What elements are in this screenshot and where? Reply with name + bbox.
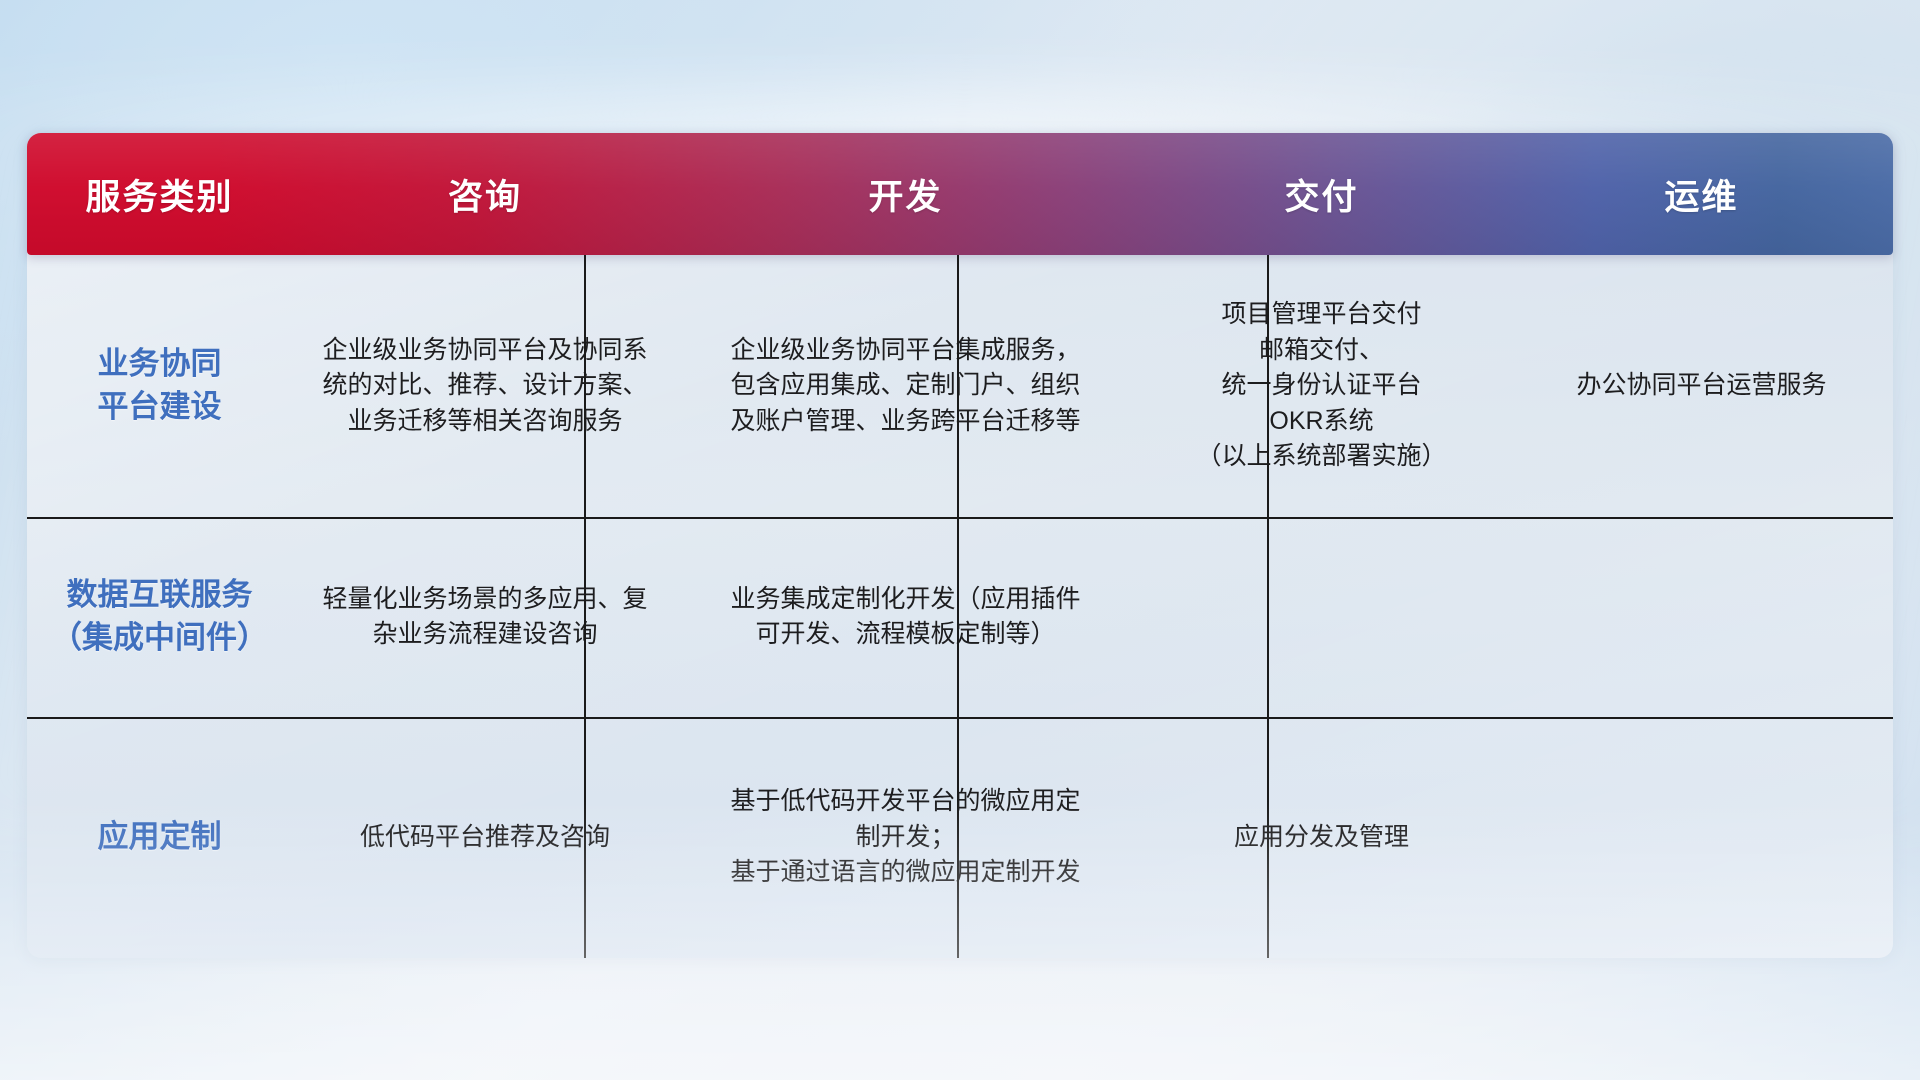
cell-text: 项目管理平台交付 邮箱交付、 统一身份认证平台 OKR系统 （以上系统部署实施） [1196, 297, 1446, 475]
column-header-delivery: 交付 [1133, 169, 1510, 220]
cell-category: 应用定制 [27, 717, 292, 958]
table-row: 业务协同 平台建设 企业级业务协同平台及协同系 统的对比、推荐、设计方案、 业务… [27, 255, 1893, 517]
column-divider [1267, 717, 1269, 958]
column-divider [584, 255, 586, 517]
cell-operations [1510, 717, 1893, 958]
column-divider [957, 255, 959, 517]
cell-operations [1510, 517, 1893, 717]
cell-text: 低代码平台推荐及咨询 [360, 820, 610, 856]
cell-operations: 办公协同平台运营服务 [1510, 255, 1893, 517]
cell-text: 企业级业务协同平台集成服务， 包含应用集成、定制门户、组织 及账户管理、业务跨平… [730, 333, 1080, 440]
category-label: 应用定制 [98, 816, 222, 859]
cell-delivery: 应用分发及管理 [1133, 717, 1510, 958]
column-divider [1267, 255, 1269, 517]
column-divider [957, 517, 959, 717]
cell-text: 办公协同平台运营服务 [1576, 368, 1826, 404]
cell-consulting: 企业级业务协同平台及协同系 统的对比、推荐、设计方案、 业务迁移等相关咨询服务 [292, 255, 678, 517]
cell-development: 业务集成定制化开发（应用插件 可开发、流程模板定制等） [678, 517, 1133, 717]
column-header-operations: 运维 [1510, 169, 1893, 220]
column-divider [584, 517, 586, 717]
column-divider [1267, 517, 1269, 717]
table-row: 数据互联服务 （集成中间件） 轻量化业务场景的多应用、复 杂业务流程建设咨询 业… [27, 517, 1893, 717]
table-body: 业务协同 平台建设 企业级业务协同平台及协同系 统的对比、推荐、设计方案、 业务… [27, 255, 1893, 958]
cell-category: 数据互联服务 （集成中间件） [27, 517, 292, 717]
row-divider [27, 717, 1893, 719]
slide-canvas: 服务类别 咨询 开发 交付 运维 业务协同 平台建设 企业级业务协同平台及协同系… [0, 0, 1920, 1080]
service-matrix-table: 服务类别 咨询 开发 交付 运维 业务协同 平台建设 企业级业务协同平台及协同系… [27, 133, 1893, 958]
category-label: 业务协同 平台建设 [98, 343, 222, 429]
column-header-consulting: 咨询 [292, 169, 678, 220]
cell-development: 企业级业务协同平台集成服务， 包含应用集成、定制门户、组织 及账户管理、业务跨平… [678, 255, 1133, 517]
cell-text: 企业级业务协同平台及协同系 统的对比、推荐、设计方案、 业务迁移等相关咨询服务 [322, 333, 647, 440]
cell-text: 轻量化业务场景的多应用、复 杂业务流程建设咨询 [322, 582, 647, 653]
cell-consulting: 轻量化业务场景的多应用、复 杂业务流程建设咨询 [292, 517, 678, 717]
cell-text: 业务集成定制化开发（应用插件 可开发、流程模板定制等） [730, 582, 1080, 653]
table-row: 应用定制 低代码平台推荐及咨询 基于低代码开发平台的微应用定 制开发； 基于通过… [27, 717, 1893, 958]
row-divider [27, 517, 1893, 519]
column-divider [584, 717, 586, 958]
column-header-development: 开发 [678, 169, 1133, 220]
cell-delivery: 项目管理平台交付 邮箱交付、 统一身份认证平台 OKR系统 （以上系统部署实施） [1133, 255, 1510, 517]
cell-category: 业务协同 平台建设 [27, 255, 292, 517]
cell-text: 基于低代码开发平台的微应用定 制开发； 基于通过语言的微应用定制开发 [730, 784, 1080, 891]
cell-development: 基于低代码开发平台的微应用定 制开发； 基于通过语言的微应用定制开发 [678, 717, 1133, 958]
column-header-service-category: 服务类别 [27, 169, 292, 220]
cell-delivery [1133, 517, 1510, 717]
cell-consulting: 低代码平台推荐及咨询 [292, 717, 678, 958]
table-header-row: 服务类别 咨询 开发 交付 运维 [27, 133, 1893, 255]
cell-text: 应用分发及管理 [1234, 820, 1409, 856]
column-divider [957, 717, 959, 958]
category-label: 数据互联服务 （集成中间件） [51, 574, 268, 660]
